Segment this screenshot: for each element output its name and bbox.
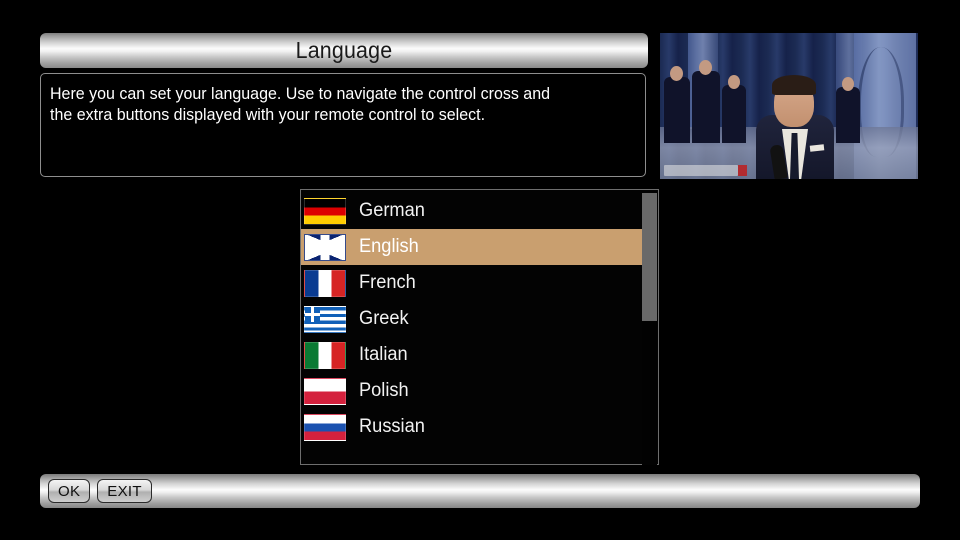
exit-button[interactable]: EXIT	[97, 479, 152, 503]
list-item-label: Russian	[359, 416, 425, 438]
list-item-label: French	[359, 272, 416, 294]
flag-italy-icon	[304, 342, 346, 369]
preview-crowd-head	[728, 75, 740, 89]
flag-united-kingdom-icon	[304, 234, 346, 261]
flag-greece-icon	[304, 306, 346, 333]
list-scrollbar-thumb[interactable]	[642, 193, 657, 321]
preview-crowd-head	[670, 66, 683, 81]
list-item-label: German	[359, 200, 425, 222]
flag-france-icon	[304, 270, 346, 297]
live-tv-preview[interactable]	[660, 33, 918, 179]
list-scrollbar-track[interactable]	[642, 191, 657, 465]
preview-reporter-hair	[772, 75, 816, 95]
news-channel-logo	[664, 165, 738, 176]
news-channel-logo-accent	[738, 165, 747, 176]
preview-crowd-figure	[722, 85, 746, 143]
list-item-english[interactable]: English	[301, 229, 642, 265]
list-item-italian[interactable]: Italian	[301, 337, 642, 373]
list-item-russian[interactable]: Russian	[301, 409, 642, 445]
list-item-polish[interactable]: Polish	[301, 373, 642, 409]
preview-crowd-head	[842, 77, 854, 91]
menu-title-bar: Language	[40, 33, 648, 68]
page-title: Language	[296, 37, 393, 64]
preview-crowd-figure	[692, 71, 720, 143]
flag-russia-icon	[304, 414, 346, 441]
help-text: Here you can set your language. Use to n…	[50, 84, 618, 126]
preview-crowd-figure	[664, 77, 690, 143]
list-item-label: Polish	[359, 380, 409, 402]
ok-button[interactable]: OK	[48, 479, 90, 503]
language-list-panel: German English French Greek Italian Poli…	[300, 189, 659, 465]
list-item-french[interactable]: French	[301, 265, 642, 301]
preview-crowd-figure	[836, 87, 860, 143]
language-list[interactable]: German English French Greek Italian Poli…	[301, 193, 642, 445]
preview-crowd-head	[699, 60, 712, 75]
help-text-panel: Here you can set your language. Use to n…	[40, 73, 646, 177]
list-item-greek[interactable]: Greek	[301, 301, 642, 337]
list-item-label: English	[359, 236, 419, 258]
bottom-button-bar: OK EXIT	[40, 474, 920, 508]
list-item-german[interactable]: German	[301, 193, 642, 229]
list-item-label: Greek	[359, 308, 409, 330]
flag-poland-icon	[304, 378, 346, 405]
flag-germany-icon	[304, 198, 346, 225]
list-item-label: Italian	[359, 344, 408, 366]
